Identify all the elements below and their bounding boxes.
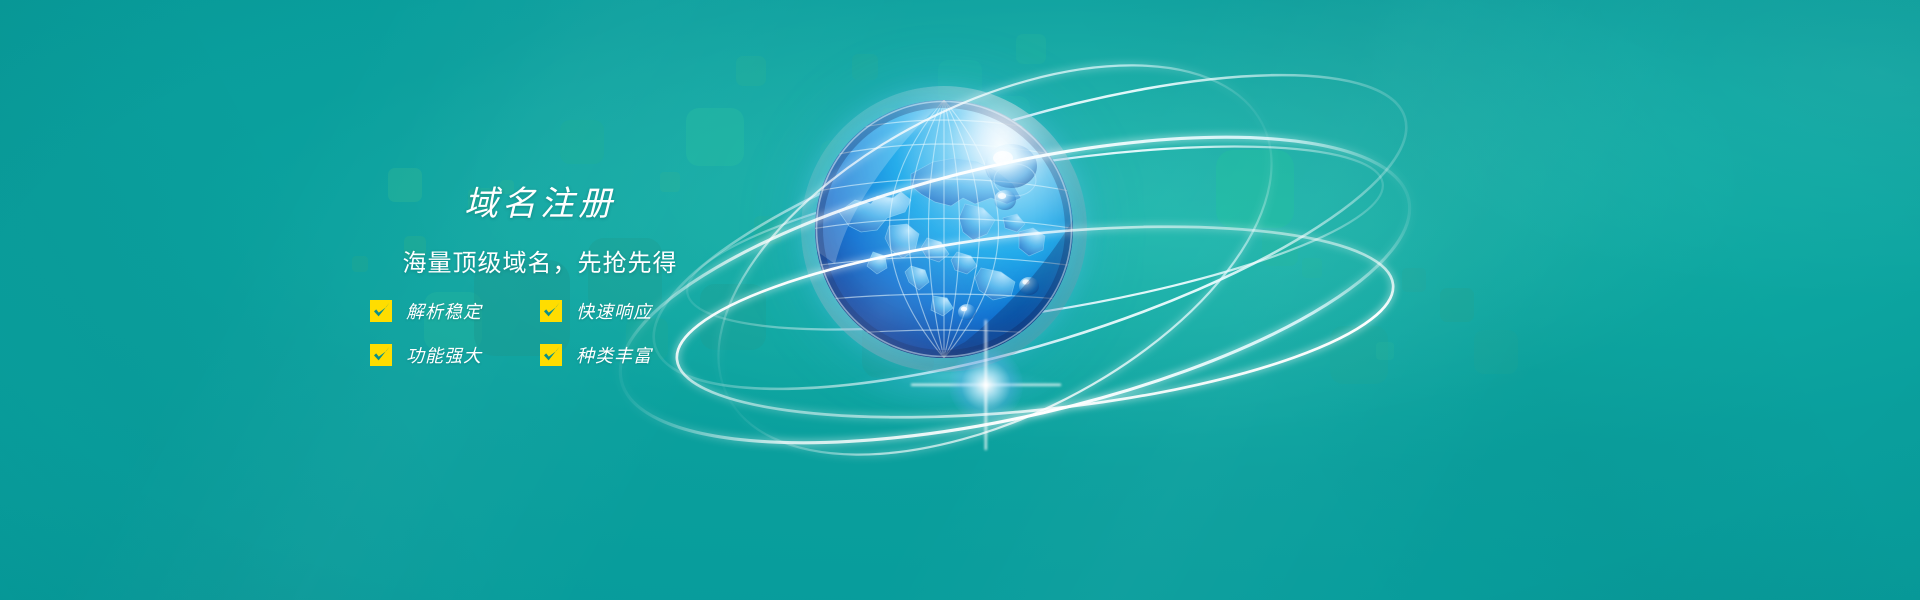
domain-registration-banner: 域名注册 海量顶级域名，先抢先得 解析稳定快速响应功能强大种类丰富 (0, 0, 1920, 600)
feature-item: 快速响应 (540, 298, 710, 324)
feature-list: 解析稳定快速响应功能强大种类丰富 (340, 298, 740, 368)
globe-surface-icon (815, 100, 1073, 358)
feature-label: 解析稳定 (406, 298, 482, 324)
page-title: 域名注册 (340, 186, 740, 223)
check-icon (370, 300, 392, 322)
feature-item: 种类丰富 (540, 342, 710, 368)
globe-graphic (795, 82, 1275, 472)
banner-copy: 域名注册 海量顶级域名，先抢先得 解析稳定快速响应功能强大种类丰富 (340, 186, 740, 368)
globe-icon (815, 100, 1073, 358)
globe-reflection-icon (817, 371, 1085, 437)
check-icon (540, 300, 562, 322)
check-icon (540, 344, 562, 366)
page-subtitle: 海量顶级域名，先抢先得 (340, 243, 740, 278)
feature-label: 种类丰富 (576, 342, 652, 368)
check-icon (370, 344, 392, 366)
feature-item: 解析稳定 (370, 298, 540, 324)
feature-item: 功能强大 (370, 342, 540, 368)
feature-label: 快速响应 (576, 298, 652, 324)
feature-label: 功能强大 (406, 342, 482, 368)
